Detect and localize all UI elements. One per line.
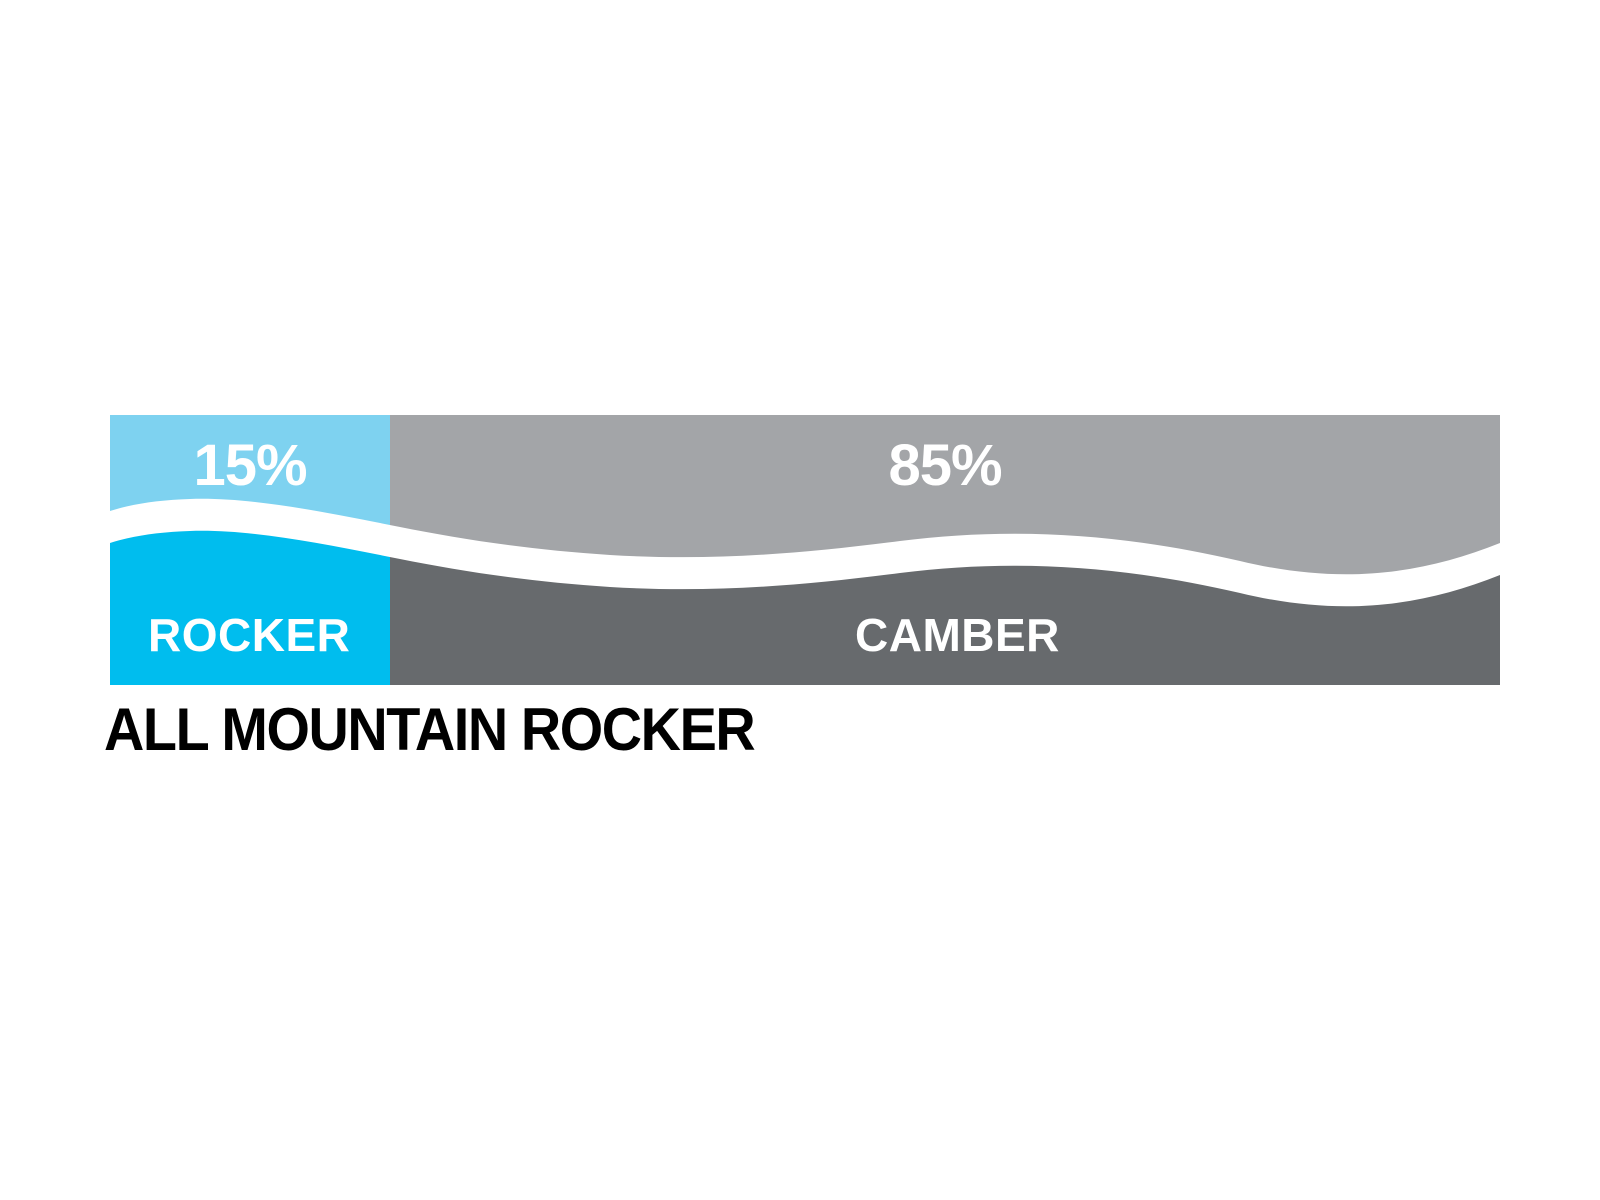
rocker-section-label: ROCKER [148,612,350,658]
snowboard-profile-diagram: 15% 85% ROCKER CAMBER ALL MOUNTAIN ROCKE… [0,0,1600,1200]
profile-title: ALL MOUNTAIN ROCKER [104,700,754,760]
camber-percent-label: 85% [390,437,1500,495]
camber-section-label: CAMBER [855,612,1060,658]
rocker-percent-label: 15% [110,437,390,495]
